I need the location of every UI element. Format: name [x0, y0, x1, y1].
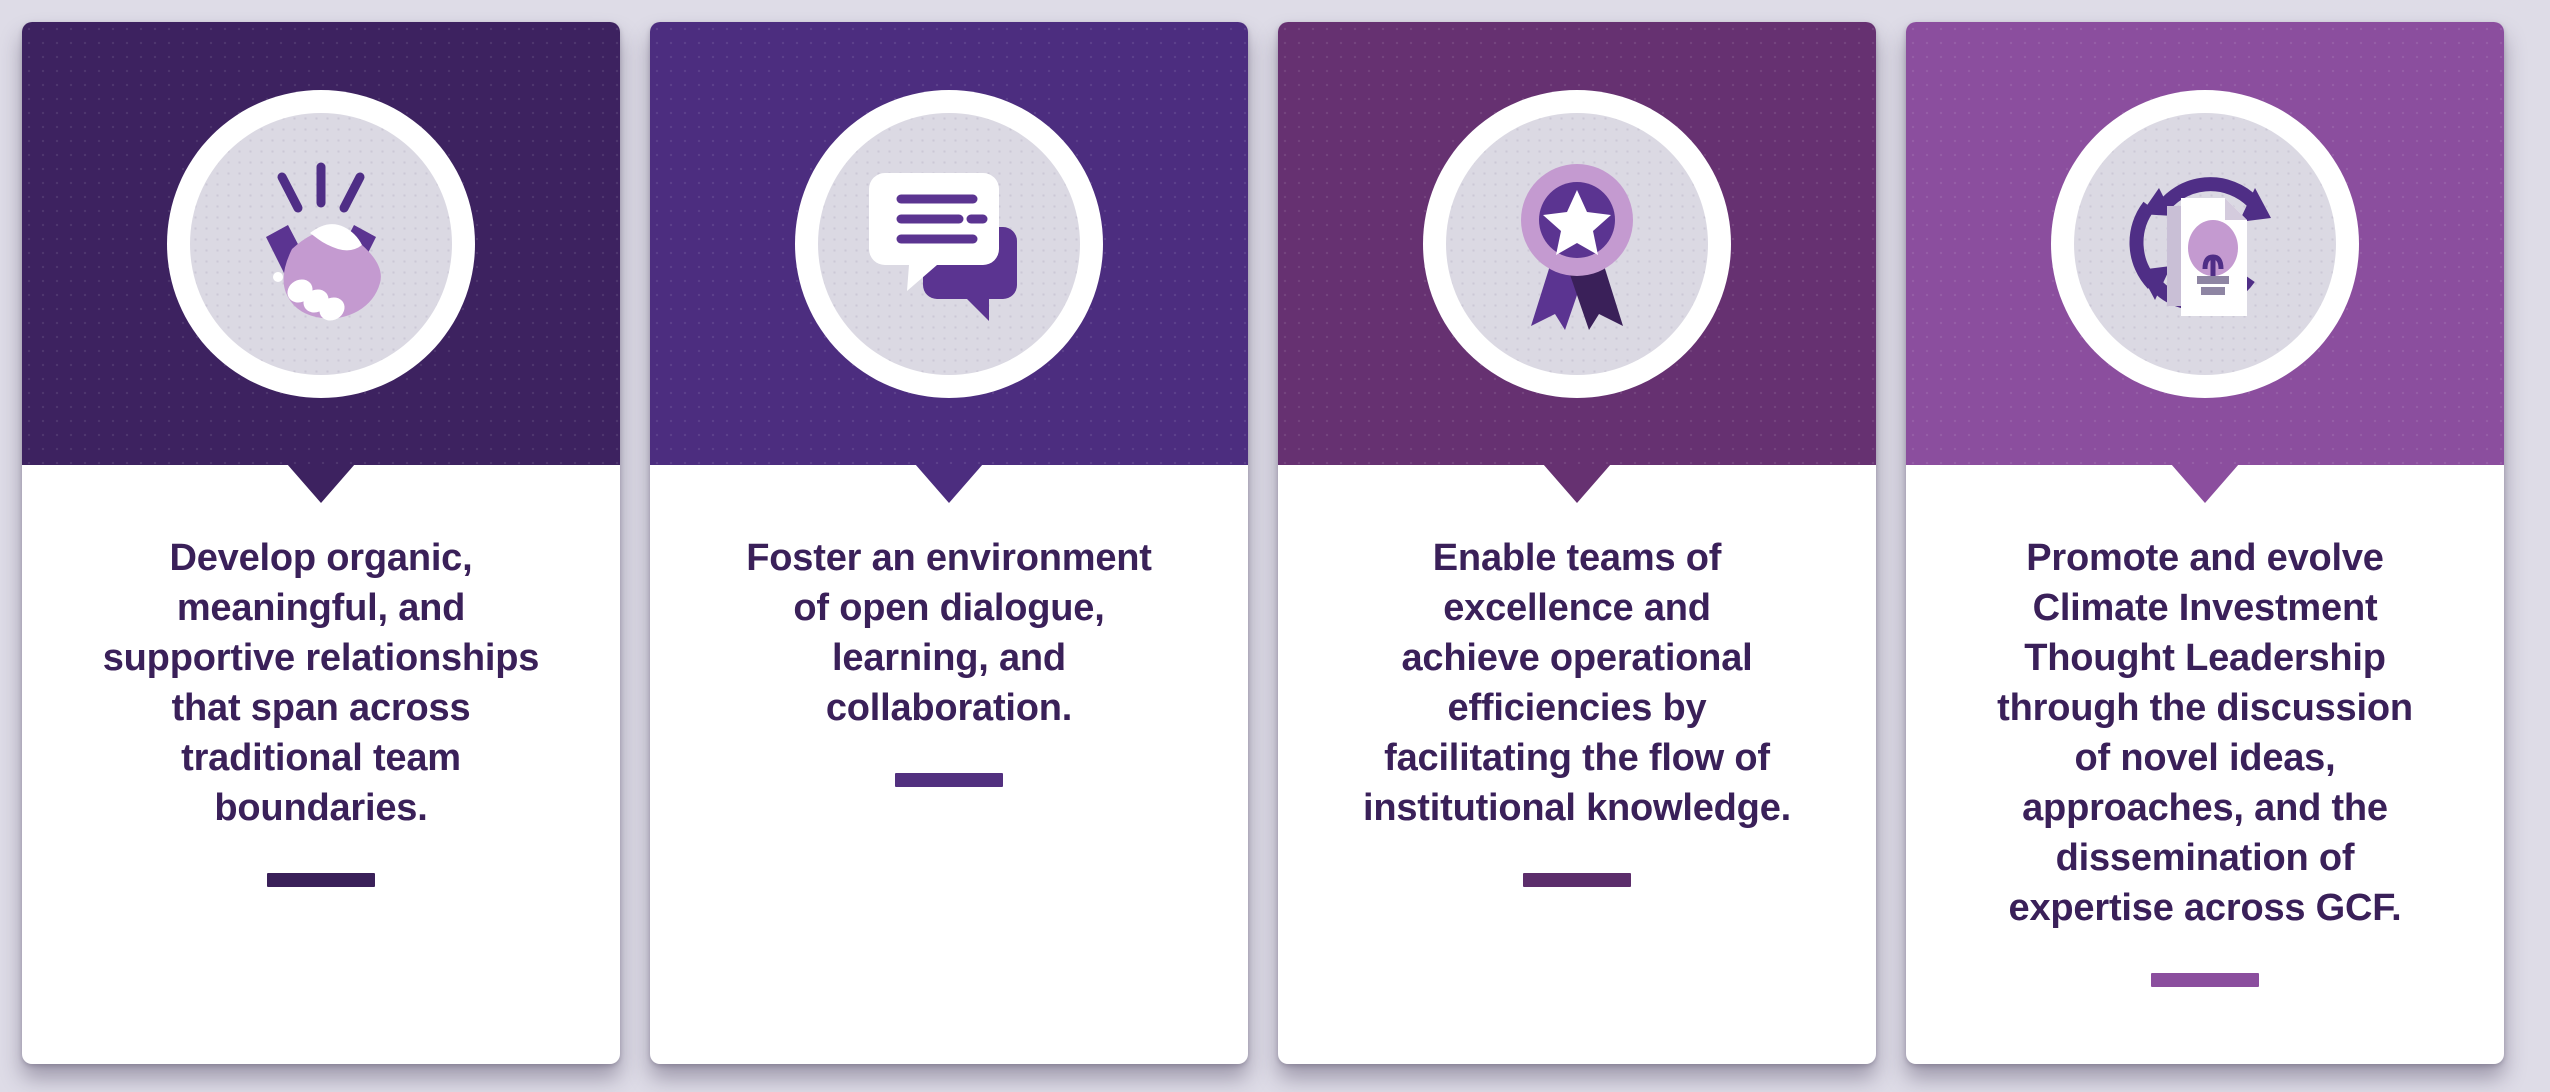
medallion-thought-leadership [2051, 90, 2359, 398]
card-body-thought-leadership: Promote and evolve Climate Investment Th… [1906, 465, 2504, 1064]
card-accent-rule [1523, 873, 1631, 887]
value-card-thought-leadership[interactable]: Promote and evolve Climate Investment Th… [1906, 22, 2504, 1064]
card-body-dialogue: Foster an environment of open dialogue, … [650, 465, 1248, 1064]
medallion-relationships [167, 90, 475, 398]
medallion-inner [1446, 113, 1708, 375]
card-body-excellence: Enable teams of excellence and achieve o… [1278, 465, 1876, 1064]
card-accent-rule [267, 873, 375, 887]
values-card-board: Develop organic, meaningful, and support… [0, 0, 2550, 1092]
medallion-excellence [1423, 90, 1731, 398]
card-header-thought-leadership [1906, 22, 2504, 465]
award-ribbon-icon [1497, 154, 1657, 334]
card-header-excellence [1278, 22, 1876, 465]
value-card-dialogue[interactable]: Foster an environment of open dialogue, … [650, 22, 1248, 1064]
card-accent-rule [2151, 973, 2259, 987]
card-accent-rule [895, 773, 1003, 787]
medallion-inner [818, 113, 1080, 375]
medallion-inner [190, 113, 452, 375]
card-text: Foster an environment of open dialogue, … [746, 533, 1151, 733]
card-header-relationships [22, 22, 620, 465]
card-text: Enable teams of excellence and achieve o… [1363, 533, 1791, 833]
card-text: Promote and evolve Climate Investment Th… [1997, 533, 2413, 933]
medallion-inner [2074, 113, 2336, 375]
medallion-dialogue [795, 90, 1103, 398]
card-body-relationships: Develop organic, meaningful, and support… [22, 465, 620, 1064]
value-card-relationships[interactable]: Develop organic, meaningful, and support… [22, 22, 620, 1064]
value-card-excellence[interactable]: Enable teams of excellence and achieve o… [1278, 22, 1876, 1064]
document-idea-cycle-icon [2105, 144, 2305, 344]
card-text: Develop organic, meaningful, and support… [103, 533, 540, 833]
handshake-icon [226, 159, 416, 329]
chat-bubbles-icon [859, 161, 1039, 326]
card-header-dialogue [650, 22, 1248, 465]
